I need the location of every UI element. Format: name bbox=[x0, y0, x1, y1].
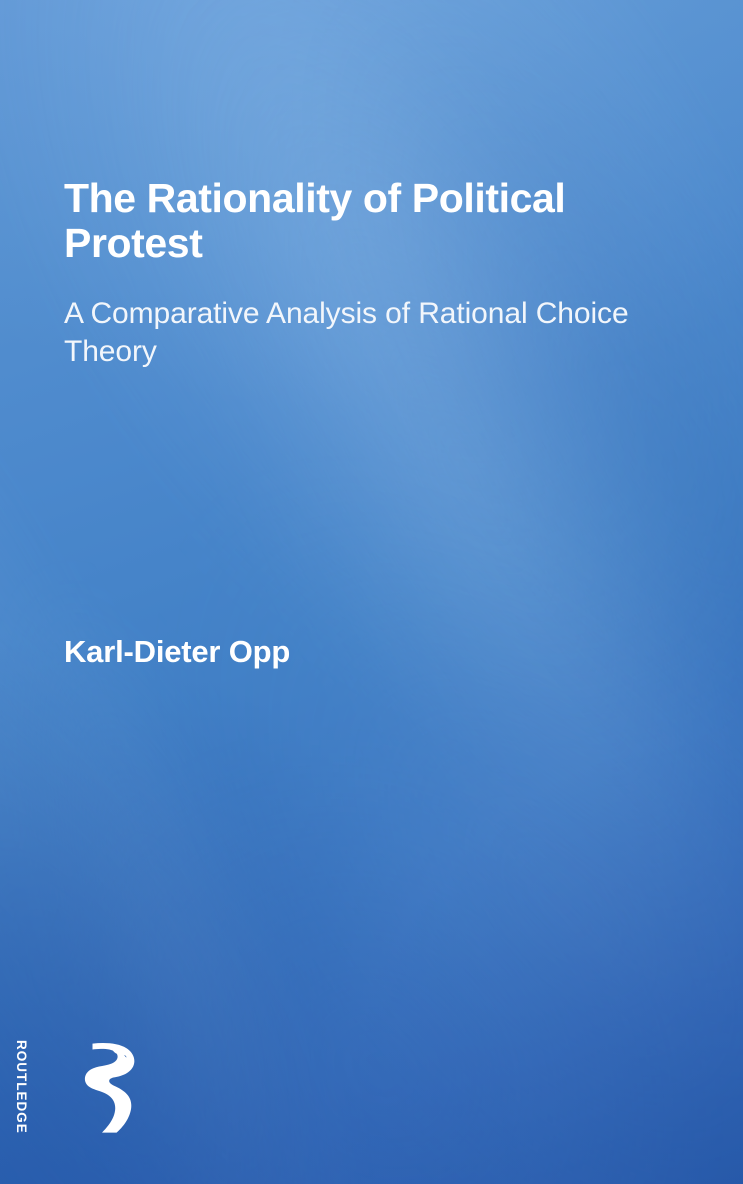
cover-text-layer: The Rationality of Political Protest A C… bbox=[0, 0, 743, 1184]
publisher-wordmark: ROUTLEDGE bbox=[58, 1040, 78, 1132]
routledge-face-r-icon bbox=[82, 1042, 142, 1139]
book-cover: The Rationality of Political Protest A C… bbox=[0, 0, 743, 1184]
book-title: The Rationality of Political Protest bbox=[64, 176, 664, 266]
book-subtitle: A Comparative Analysis of Rational Choic… bbox=[64, 295, 694, 371]
publisher-logo: ROUTLEDGE bbox=[58, 1040, 168, 1136]
book-author: Karl-Dieter Opp bbox=[64, 634, 290, 670]
publisher-name: ROUTLEDGE bbox=[14, 1040, 29, 1134]
